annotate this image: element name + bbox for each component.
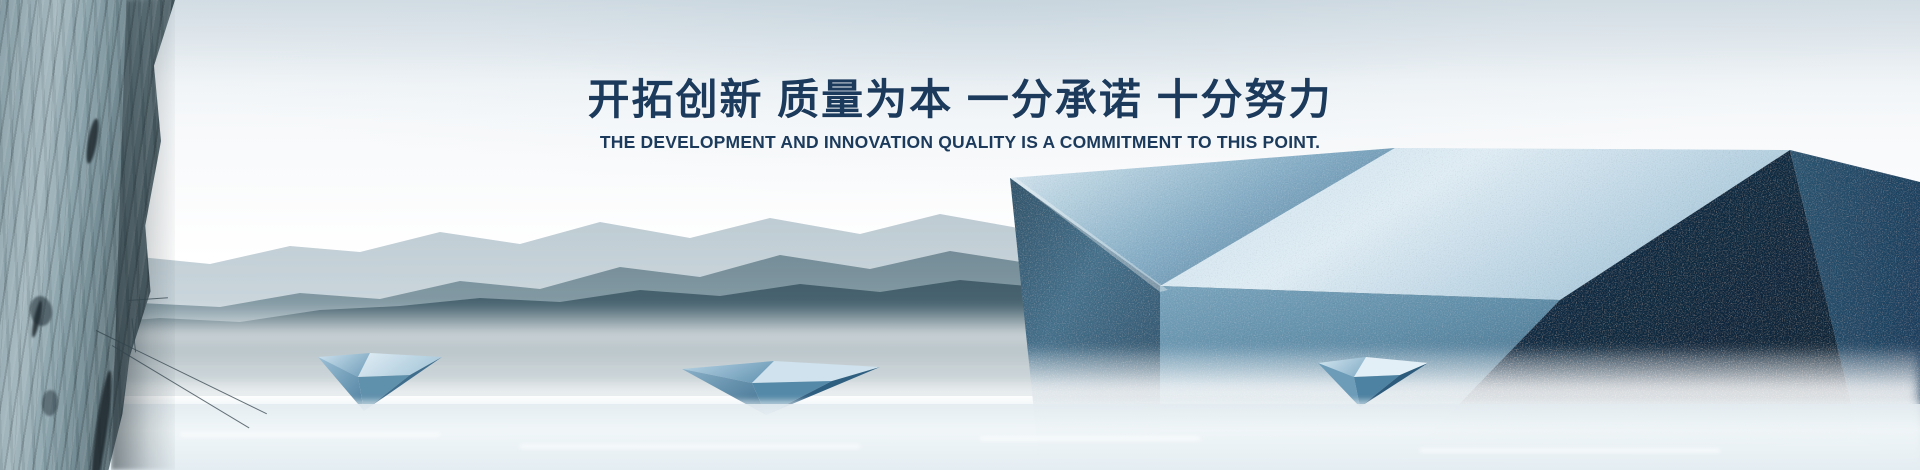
water-streak (520, 445, 860, 448)
small-pyramid-right-face-d (1354, 375, 1400, 407)
water-streak (1420, 449, 1720, 452)
banner-headline: 开拓创新 质量为本 一分承诺 十分努力 (0, 76, 1920, 123)
large-inverted-pyramid (0, 0, 1920, 470)
small-pyramid-right-face-b (1354, 357, 1428, 377)
water-streak (980, 437, 1200, 440)
rock-cliff (0, 0, 175, 470)
water-streak (180, 433, 440, 436)
hero-banner: 开拓创新 质量为本 一分承诺 十分努力 THE DEVELOPMENT AND … (0, 0, 1920, 470)
small-pyramid-mid-face-b (752, 361, 880, 383)
banner-subline: THE DEVELOPMENT AND INNOVATION QUALITY I… (0, 132, 1920, 153)
banner-text-block: 开拓创新 质量为本 一分承诺 十分努力 THE DEVELOPMENT AND … (0, 76, 1920, 153)
water-surface (0, 404, 1920, 470)
